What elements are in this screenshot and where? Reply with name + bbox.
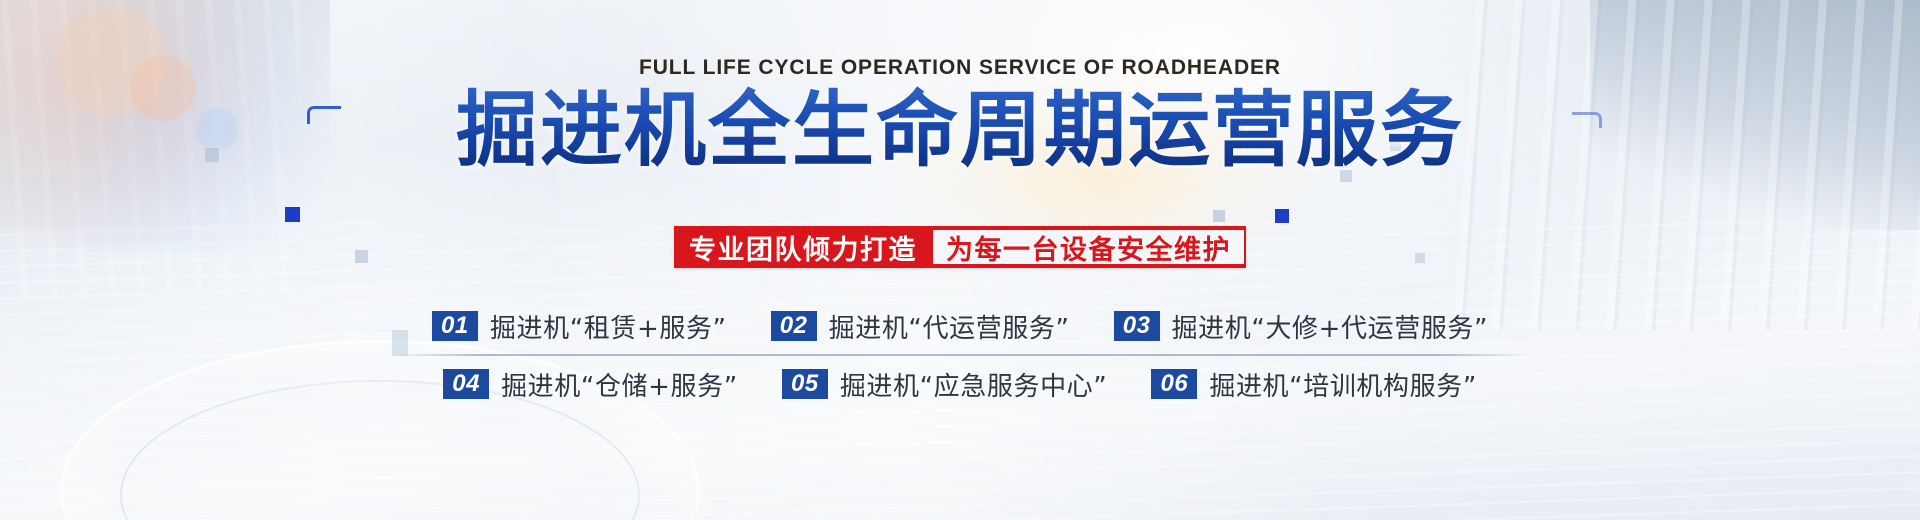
service-item-02[interactable]: 02 掘进机“代运营服务”: [771, 308, 1070, 345]
banner-content: FULL LIFE CYCLE OPERATION SERVICE OF ROA…: [0, 0, 1920, 520]
service-label: 掘进机“大修+代运营服务”: [1172, 308, 1489, 345]
service-label: 掘进机“培训机构服务”: [1209, 366, 1477, 403]
service-item-03[interactable]: 03 掘进机“大修+代运营服务”: [1114, 308, 1489, 345]
service-label: 掘进机“租赁+服务”: [490, 308, 727, 345]
slogan-primary: 专业团队倾力打造: [676, 228, 930, 266]
service-item-05[interactable]: 05 掘进机“应急服务中心”: [782, 366, 1108, 403]
service-number-badge: 06: [1151, 369, 1197, 399]
service-row-2: 04 掘进机“仓储+服务” 05 掘进机“应急服务中心” 06 掘进机“培训机构…: [0, 356, 1920, 412]
service-row-1: 01 掘进机“租赁+服务” 02 掘进机“代运营服务” 03 掘进机“大修+代运…: [0, 298, 1920, 354]
service-number-badge: 05: [782, 369, 828, 399]
slogan-bar: 专业团队倾力打造 为每一台设备安全维护: [674, 226, 1246, 268]
service-item-04[interactable]: 04 掘进机“仓储+服务”: [443, 366, 738, 403]
service-label: 掘进机“应急服务中心”: [840, 366, 1108, 403]
service-number-badge: 04: [443, 369, 489, 399]
service-number-badge: 03: [1114, 311, 1160, 341]
service-number-badge: 02: [771, 311, 817, 341]
service-label: 掘进机“代运营服务”: [829, 308, 1070, 345]
slogan-secondary: 为每一台设备安全维护: [933, 230, 1244, 264]
hero-banner: FULL LIFE CYCLE OPERATION SERVICE OF ROA…: [0, 0, 1920, 520]
banner-main-title: 掘进机全生命周期运营服务: [0, 86, 1920, 176]
service-item-01[interactable]: 01 掘进机“租赁+服务”: [432, 308, 727, 345]
service-label: 掘进机“仓储+服务”: [501, 366, 738, 403]
service-list: 01 掘进机“租赁+服务” 02 掘进机“代运营服务” 03 掘进机“大修+代运…: [0, 298, 1920, 412]
service-item-06[interactable]: 06 掘进机“培训机构服务”: [1151, 366, 1477, 403]
service-number-badge: 01: [432, 311, 478, 341]
banner-eyebrow-english: FULL LIFE CYCLE OPERATION SERVICE OF ROA…: [0, 56, 1920, 80]
